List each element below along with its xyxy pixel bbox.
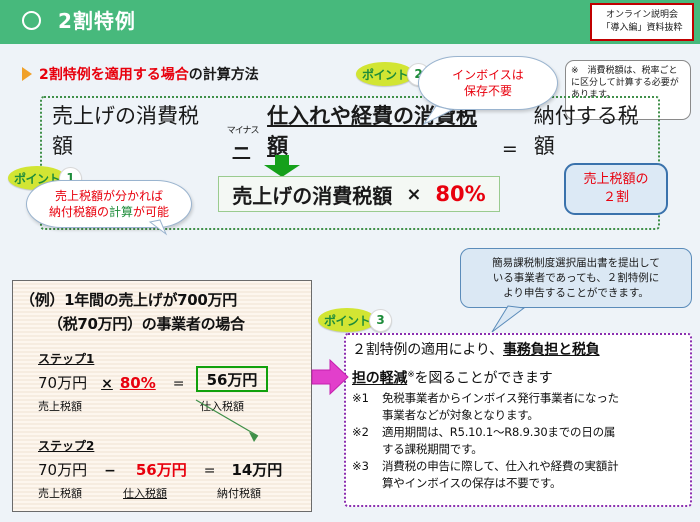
point-badge-2-label: ポイント — [356, 62, 414, 86]
note-key: ※2 — [352, 424, 382, 441]
point1-line2-a: 納付税額の — [49, 205, 109, 219]
step2-label-result: 納付税額 — [217, 485, 261, 501]
formula-equals: = — [502, 138, 518, 160]
benefit-line2-mark: ※ — [407, 370, 414, 380]
note-item: ※2 適用期間は、R5.10.1〜R8.9.30までの日の属 する課税期間です。 — [352, 424, 692, 458]
note-text-cont: 算やインボイスの保存は不要です。 — [382, 475, 692, 492]
percent-formula-box: 売上げの消費税額 × 80% — [218, 176, 500, 212]
callout-line1: 簡易課税制度選択届出書を提出して — [492, 256, 660, 271]
section-heading-text: 2割特例を適用する場合の計算方法 — [39, 64, 259, 84]
slide: 2割特例 オンライン説明会 「導入編」資料抜粋 2割特例を適用する場合の計算方法… — [0, 0, 700, 522]
step2-label-a: 売上税額 — [38, 485, 82, 501]
step2-operand-b: 56万円 — [136, 459, 187, 480]
step1-result: 56万円 — [207, 369, 258, 390]
step1-label: ステップ1 — [38, 350, 94, 367]
formula-minus-ruby: マイナス — [222, 123, 264, 136]
circle-outline-icon — [22, 11, 41, 30]
benefit-line2-b: を図ることができます — [415, 371, 553, 387]
point1-line2: 納付税額の計算が可能 — [49, 204, 169, 220]
callout-line2: いる事業者であっても、２割特例に — [493, 271, 660, 286]
point1-line2-b: が可能 — [133, 205, 169, 219]
step1-result-box: 56万円 — [196, 366, 268, 392]
benefit-line1-underline: 事務負担と税負 — [503, 342, 600, 358]
step1-operator: × — [101, 376, 113, 392]
step1-equals: = — [173, 376, 185, 392]
formula-result: 納付する税額 — [534, 100, 652, 160]
point2-line2: 保存不要 — [464, 83, 512, 99]
benefit-line2: 担の軽減※を図ることができます — [352, 363, 690, 392]
step2-operand-a: 70万円 — [38, 459, 87, 480]
simplified-tax-callout: 簡易課税制度選択届出書を提出して いる事業者であっても、２割特例に より申告する… — [460, 248, 692, 308]
point1-line1: 売上税額が分かれば — [55, 188, 163, 204]
point-badge-3-number: 3 — [369, 309, 392, 332]
note-text: 適用期間は、R5.10.1〜R8.9.30までの日の属 — [382, 424, 692, 441]
step2-operator: − — [104, 463, 116, 479]
source-badge-line1: オンライン説明会 — [606, 9, 678, 22]
source-badge: オンライン説明会 「導入編」資料抜粋 — [590, 3, 694, 41]
step1-rate: 80% — [120, 374, 156, 392]
benefit-line2-underline: 担の軽減 — [352, 371, 407, 387]
page-title: 2割特例 — [58, 8, 136, 34]
callout-line3: より申告することができます。 — [503, 286, 649, 301]
example-title-line2: （税70万円）の事業者の場合 — [48, 313, 310, 334]
point1-line2-green: 計算 — [109, 205, 133, 219]
section-heading-plain: の計算方法 — [189, 67, 259, 83]
slide-header: 2割特例 オンライン説明会 「導入編」資料抜粋 — [0, 0, 700, 44]
green-down-arrow-icon — [262, 155, 302, 177]
formula-minus: マイナス − — [222, 136, 261, 160]
benefit-line1: ２割特例の適用により、事務負担と税負 — [352, 338, 690, 363]
point1-bubble: 売上税額が分かれば 納付税額の計算が可能 — [26, 180, 192, 228]
step2-result: 14万円 — [231, 459, 282, 480]
note-key: ※1 — [352, 390, 382, 407]
example-title: （例）1年間の売上げが700万円 （税70万円）の事業者の場合 — [20, 289, 310, 334]
note-text-cont: 事業者などが対象となります。 — [382, 407, 692, 424]
two-wari-line2: ２割 — [603, 189, 629, 207]
step2-label-b: 仕入税額 — [123, 485, 167, 501]
point2-line1: インボイスは — [452, 67, 524, 83]
main-formula: 売上げの消費税額 マイナス − 仕入れや経費の消費税額 = 納付する税額 — [52, 120, 652, 160]
note-text-cont: する課税期間です。 — [382, 441, 692, 458]
note-text: 免税事業者からインボイス発行事業者になった — [382, 390, 692, 407]
point2-bubble: インボイスは 保存不要 — [418, 56, 558, 110]
point-badge-3: ポイント 3 — [318, 308, 392, 332]
percent-formula-left: 売上げの消費税額 — [232, 180, 392, 209]
formula-minus-sign: − — [233, 136, 251, 160]
source-badge-line2: 「導入編」資料抜粋 — [601, 22, 682, 35]
percent-formula-value: 80% — [435, 182, 485, 206]
step1-operand-a: 70万円 — [38, 372, 87, 393]
benefit-line1-a: ２割特例の適用により、 — [352, 342, 503, 358]
step1-calculation: 70万円 × 80% = — [38, 372, 184, 393]
pink-right-arrow-icon — [310, 357, 350, 397]
note-item: ※3 消費税の申告に際して、仕入れや経費の実額計 算やインボイスの保存は不要です… — [352, 458, 692, 492]
step2-label: ステップ2 — [38, 437, 94, 454]
step1-label-result: 仕入税額 — [200, 398, 244, 414]
triangle-right-icon — [22, 67, 32, 81]
note-key: ※3 — [352, 458, 382, 475]
formula-term1: 売上げの消費税額 — [52, 100, 210, 160]
section-heading-red: 2割特例を適用する場合 — [39, 67, 189, 83]
note-item: ※1 免税事業者からインボイス発行事業者になった 事業者などが対象となります。 — [352, 390, 692, 424]
two-wari-box: 売上税額の ２割 — [564, 163, 668, 215]
section-heading: 2割特例を適用する場合の計算方法 — [22, 64, 259, 84]
benefit-notes: ※1 免税事業者からインボイス発行事業者になった 事業者などが対象となります。 … — [352, 390, 692, 492]
note-text: 消費税の申告に際して、仕入れや経費の実額計 — [382, 458, 692, 475]
two-wari-line1: 売上税額の — [583, 171, 648, 189]
step2-calculation: 70万円 − 56万円 = 14万円 — [38, 459, 282, 480]
step2-equals: = — [204, 463, 216, 479]
step1-label-a: 売上税額 — [38, 398, 82, 414]
example-title-line1: （例）1年間の売上げが700万円 — [20, 289, 310, 310]
point-badge-3-label: ポイント — [318, 308, 376, 332]
percent-formula-operator: × — [406, 184, 421, 205]
benefit-main-text: ２割特例の適用により、事務負担と税負 担の軽減※を図ることができます — [352, 338, 690, 392]
